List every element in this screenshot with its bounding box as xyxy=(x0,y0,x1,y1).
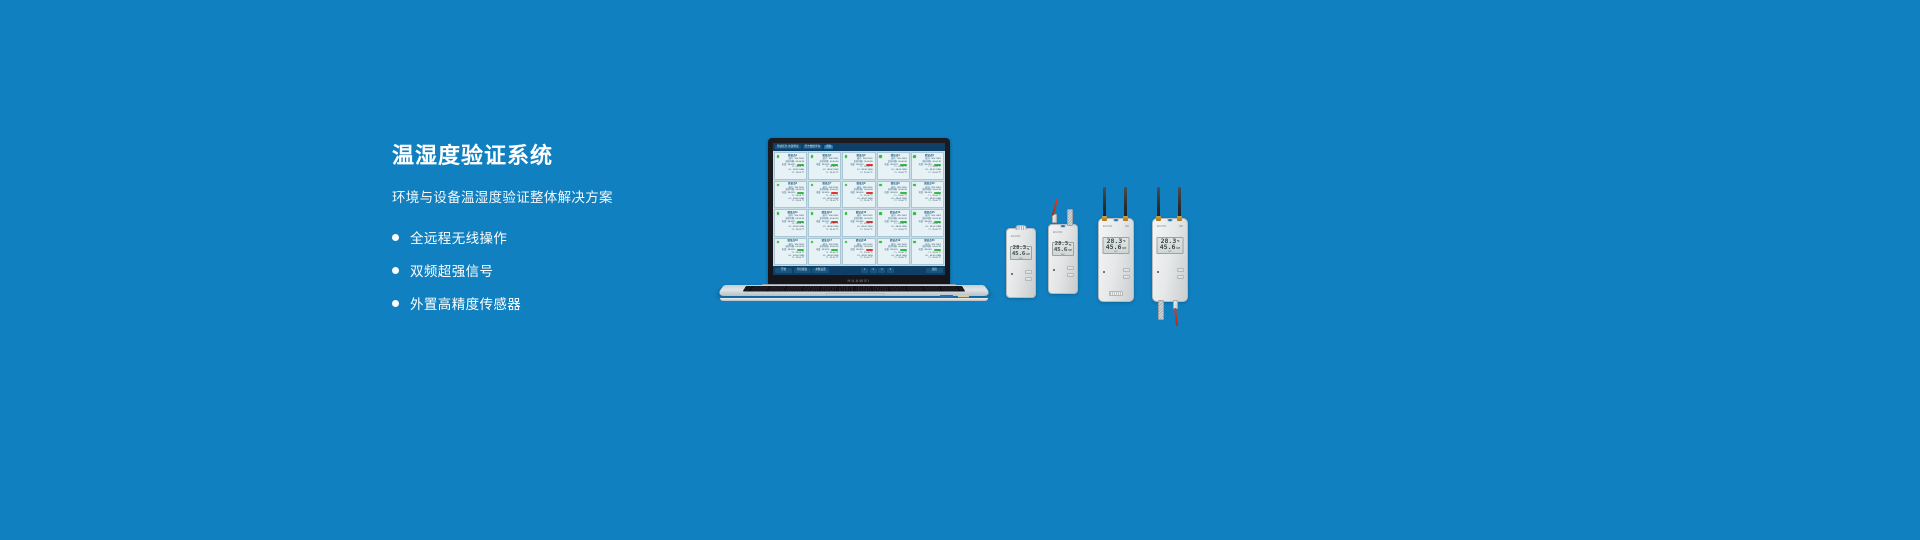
sensor-card-key: T2: xyxy=(860,257,863,260)
device-lcd-display: 28.3 ℃ 45.6 %RH REC xyxy=(1010,246,1032,260)
sensor-card-row: T2:25.00 ℃ xyxy=(849,257,872,260)
device-lcd-display: 28.3 ℃ 45.6 %RH REC xyxy=(1157,237,1184,254)
app-bottom-toolbar: 开始 导出报表 参数设置 1 2 3 4 退出 xyxy=(773,266,945,275)
lcd-humidity-unit: %RH xyxy=(1068,250,1072,252)
sensor-card-key: 电量: xyxy=(884,249,889,252)
sensor-card-grid: 验证点1编号:WS-TH01采样间隔:00:00:30电量:98.00%T1:2… xyxy=(773,151,945,266)
card-status-led-icon xyxy=(811,241,814,244)
device-brand-row: ENON xyxy=(1049,230,1077,234)
sensor-card-row: T2:25.00 ℃ xyxy=(884,257,907,260)
sensor-card-title: 验证点12 xyxy=(815,212,838,215)
laptop-sticker-blue xyxy=(940,295,953,297)
feature-list: 全远程无线操作 双频超强信号 外置高精度传感器 xyxy=(392,227,722,313)
sensor-card-row: T2:25.00 ℃ xyxy=(884,200,907,203)
device-key-up[interactable] xyxy=(1123,268,1130,272)
sensor-card-key: 电量: xyxy=(816,249,821,252)
bullet-dot-icon xyxy=(392,300,399,307)
device-probe-logger: ENON 28.3 ℃ 45.6 %RH REC xyxy=(1048,224,1078,294)
device-brand-row: ENON H8 xyxy=(1153,224,1187,228)
device-body: ENON 28.3 ℃ 45.6 %RH REC xyxy=(1048,224,1078,294)
sensor-card-title: 验证点1 xyxy=(781,155,804,158)
sensor-card-row: T2:25.00 ℃ xyxy=(815,172,838,175)
card-status-led-icon xyxy=(811,155,814,158)
sensor-card-key: 电量: xyxy=(816,192,821,195)
laptop-front-edge xyxy=(720,298,988,301)
antenna-right-icon xyxy=(1178,187,1181,217)
sensor-card[interactable]: 验证点4编号:WS-TH01采样间隔:00:00:30电量:98.00%T1:2… xyxy=(877,152,910,180)
sensor-card[interactable]: 验证点1编号:WS-TH01采样间隔:00:00:30电量:98.00%T1:2… xyxy=(774,152,807,180)
lcd-humidity-unit: %RH xyxy=(1122,248,1126,250)
device-brand: ENON xyxy=(1053,230,1062,234)
sensor-card-row: T2:25.00 ℃ xyxy=(884,172,907,175)
card-status-led-icon xyxy=(879,184,882,187)
sensor-card-value: 25.00 ℃ xyxy=(932,229,941,232)
card-status-led-icon xyxy=(845,155,848,158)
bullet-dot-icon xyxy=(392,234,399,241)
card-status-led-icon xyxy=(913,212,916,215)
sensor-card-row: T2:25.00 ℃ xyxy=(918,172,941,175)
lcd-humidity-line: 45.6 %RH xyxy=(1013,252,1029,258)
card-status-led-icon xyxy=(913,155,916,158)
sensor-card-key: T2: xyxy=(894,257,897,260)
sensor-card-value: 25.00 ℃ xyxy=(830,200,839,203)
laptop-product-image: 测试任务-新建测试 历史数据查询 帮助 验证点1编号:WS-TH01采样间隔:0… xyxy=(718,138,990,301)
status-led-icon xyxy=(1011,273,1013,275)
card-status-led-icon xyxy=(879,212,882,215)
device-body: ENON H8 28.3 ℃ 45.6 %RH REC xyxy=(1152,218,1188,302)
card-status-led-icon xyxy=(777,184,780,187)
card-status-led-icon xyxy=(845,212,848,215)
sensor-card-value: 25.00 ℃ xyxy=(796,229,805,232)
card-status-led-icon xyxy=(811,212,814,215)
sensor-card-key: 电量: xyxy=(919,221,924,224)
sensor-card[interactable]: 验证点19编号:WS-TH01采样间隔:00:00:30电量:98.00%T1:… xyxy=(877,238,910,266)
sensor-card[interactable]: 验证点13编号:WS-TH01采样间隔:00:00:30电量:98.00%T1:… xyxy=(842,209,875,237)
sensor-card-title: 验证点6 xyxy=(781,183,804,186)
sensor-card-row: T2:25.00 ℃ xyxy=(918,200,941,203)
lcd-footer: REC xyxy=(1013,258,1029,260)
sensor-card-title: 验证点7 xyxy=(815,183,838,186)
tab-help[interactable]: 帮助 xyxy=(824,145,833,150)
device-lcd-display: 28.3 ℃ 45.6 %RH REC xyxy=(1052,242,1074,256)
sensor-card-key: T2: xyxy=(894,172,897,175)
sensor-card-key: 电量: xyxy=(782,164,787,167)
sensor-card-key: T2: xyxy=(826,257,829,260)
sensor-card-key: T2: xyxy=(826,172,829,175)
device-key-down[interactable] xyxy=(1177,275,1184,279)
sensor-card-value: 25.00 ℃ xyxy=(830,229,839,232)
page-4-button[interactable]: 4 xyxy=(887,268,894,274)
device-key-down[interactable] xyxy=(1025,277,1032,281)
sensor-card[interactable]: 验证点10编号:WS-TH01采样间隔:00:00:30电量:98.00%T1:… xyxy=(911,181,944,209)
card-status-led-icon xyxy=(777,212,780,215)
device-dual-antenna-logger: ENON H8 28.3 ℃ 45.6 %RH REC xyxy=(1098,218,1134,302)
page-3-button[interactable]: 3 xyxy=(878,268,885,274)
sensor-card-row: T2:25.00 ℃ xyxy=(849,200,872,203)
banner-stage: 温湿度验证系统 环境与设备温湿度验证整体解决方案 全远程无线操作 双频超强信号 … xyxy=(0,0,1920,540)
device-dual-antenna-probe-logger: ENON H8 28.3 ℃ 45.6 %RH REC xyxy=(1152,218,1188,302)
export-report-button[interactable]: 导出报表 xyxy=(794,268,811,274)
sensor-card-value: 25.00 ℃ xyxy=(864,172,873,175)
sensor-card-title: 验证点3 xyxy=(849,155,872,158)
sensor-card-key: T2: xyxy=(791,229,794,232)
sensor-card-key: 电量: xyxy=(884,164,889,167)
sensor-card-title: 验证点2 xyxy=(815,155,838,158)
sensor-card-key: 电量: xyxy=(850,249,855,252)
sensor-card[interactable]: 验证点6编号:WS-TH01采样间隔:00:00:30电量:98.00%T1:2… xyxy=(774,181,807,209)
device-brand-row: ENON H8 xyxy=(1099,224,1133,228)
feature-label: 外置高精度传感器 xyxy=(410,293,521,313)
lcd-footer: REC xyxy=(1055,254,1071,256)
sensor-card-title: 验证点8 xyxy=(849,183,872,186)
device-mini-logger: ENON 28.3 ℃ 45.6 %RH REC xyxy=(1006,228,1036,298)
sensor-card-value: 25.00 ℃ xyxy=(932,172,941,175)
sensor-card-title: 验证点9 xyxy=(884,183,907,186)
sensor-card-key: T2: xyxy=(860,172,863,175)
device-hang-hole xyxy=(1060,224,1066,228)
settings-button[interactable]: 参数设置 xyxy=(812,268,829,274)
card-status-led-icon xyxy=(913,241,916,244)
sensor-card-key: 电量: xyxy=(850,221,855,224)
card-status-led-icon xyxy=(879,155,882,158)
sensor-card-key: 电量: xyxy=(919,192,924,195)
sensor-card-key: 电量: xyxy=(782,192,787,195)
data-logger-devices: ENON 28.3 ℃ 45.6 %RH REC xyxy=(1002,180,1212,330)
sensor-card-value: 25.00 ℃ xyxy=(830,172,839,175)
lcd-footer: REC xyxy=(1106,251,1127,253)
antenna-right-icon xyxy=(1124,187,1127,217)
page-1-button[interactable]: 1 xyxy=(861,268,868,274)
device-model: H8 xyxy=(1179,224,1183,228)
device-brand: ENON xyxy=(1103,224,1112,228)
sensor-card-row: T2:25.00 ℃ xyxy=(918,257,941,260)
sensor-card-row: T2:25.00 ℃ xyxy=(815,229,838,232)
card-status-led-icon xyxy=(879,241,882,244)
sensor-card-value: 25.00 ℃ xyxy=(898,172,907,175)
sensor-card-value: 25.00 ℃ xyxy=(864,257,873,260)
sensor-card-value: 25.00 ℃ xyxy=(796,257,805,260)
banner-subtitle: 环境与设备温湿度验证整体解决方案 xyxy=(392,186,722,206)
device-key-up[interactable] xyxy=(1177,268,1184,272)
sensor-card-value: 25.00 ℃ xyxy=(864,200,873,203)
lcd-humidity-line: 45.6 %RH xyxy=(1106,244,1127,251)
device-hang-hole xyxy=(1167,218,1173,222)
sensor-card-title: 验证点13 xyxy=(849,212,872,215)
laptop-keyboard[interactable] xyxy=(743,286,966,291)
sensor-card-value: 25.00 ℃ xyxy=(932,200,941,203)
sensor-card-row: T2:25.00 ℃ xyxy=(849,229,872,232)
sensor-card-value: 25.00 ℃ xyxy=(932,257,941,260)
sensor-card[interactable]: 验证点7编号:WS-TH01采样间隔:00:00:30电量:98.00%T1:2… xyxy=(808,181,841,209)
device-model: H8 xyxy=(1125,224,1129,228)
status-led-icon xyxy=(1157,271,1159,273)
lcd-humidity-unit: %RH xyxy=(1026,254,1030,256)
sensor-card[interactable]: 验证点17编号:WS-TH01采样间隔:00:00:30电量:98.00%T1:… xyxy=(808,238,841,266)
sensor-card-key: T2: xyxy=(860,200,863,203)
sensor-card-value: 25.00 ℃ xyxy=(796,172,805,175)
sensor-card-key: T2: xyxy=(791,172,794,175)
sensor-card-key: T2: xyxy=(928,257,931,260)
status-led-icon xyxy=(1053,269,1055,271)
list-item: 外置高精度传感器 xyxy=(392,293,722,313)
lcd-humidity-line: 45.6 %RH xyxy=(1055,248,1071,254)
sensor-card[interactable]: 验证点8编号:WS-TH01采样间隔:00:00:30电量:98.00%T1:2… xyxy=(842,181,875,209)
sensor-card-key: T2: xyxy=(860,229,863,232)
laptop-sticker-gold xyxy=(958,295,969,297)
sensor-card-key: 电量: xyxy=(884,192,889,195)
device-key-down[interactable] xyxy=(1067,273,1074,277)
laptop-trackpad[interactable] xyxy=(826,293,885,296)
card-status-led-icon xyxy=(913,184,916,187)
sensor-card-key: T2: xyxy=(894,200,897,203)
device-body: ENON H8 28.3 ℃ 45.6 %RH REC xyxy=(1098,218,1134,302)
sensor-card[interactable]: 验证点15编号:WS-TH01采样间隔:00:00:30电量:98.00%T1:… xyxy=(911,209,944,237)
sensor-card[interactable]: 验证点9编号:WS-TH01采样间隔:00:00:30电量:98.00%T1:2… xyxy=(877,181,910,209)
laptop-screen: 测试任务-新建测试 历史数据查询 帮助 验证点1编号:WS-TH01采样间隔:0… xyxy=(773,143,945,275)
sensor-card-row: T2:25.00 ℃ xyxy=(781,229,804,232)
sensor-card[interactable]: 验证点18编号:WS-TH01采样间隔:00:00:30电量:98.00%T1:… xyxy=(842,238,875,266)
list-item: 全远程无线操作 xyxy=(392,227,722,247)
lcd-humidity-value: 45.6 xyxy=(1106,244,1122,251)
sensor-card-title: 验证点5 xyxy=(918,155,941,158)
sensor-card-value: 25.00 ℃ xyxy=(898,229,907,232)
sensor-card-value: 25.00 ℃ xyxy=(864,229,873,232)
sensor-card-row: T2:25.00 ℃ xyxy=(884,229,907,232)
start-button[interactable]: 开始 xyxy=(775,268,792,274)
device-key-down[interactable] xyxy=(1123,275,1130,279)
lcd-humidity-value: 45.6 xyxy=(1160,244,1176,251)
sensor-card-title: 验证点17 xyxy=(815,240,838,243)
sensor-card-title: 验证点14 xyxy=(884,212,907,215)
sensor-card-row: T2:25.00 ℃ xyxy=(781,257,804,260)
sensor-card-title: 验证点15 xyxy=(918,212,941,215)
sensor-card-title: 验证点18 xyxy=(849,240,872,243)
sensor-card-key: 电量: xyxy=(850,192,855,195)
sensor-card-key: 电量: xyxy=(782,221,787,224)
sensor-card-key: 电量: xyxy=(816,221,821,224)
sensor-card[interactable]: 验证点5编号:WS-TH01采样间隔:00:00:30电量:98.00%T1:2… xyxy=(911,152,944,180)
sensor-card[interactable]: 验证点14编号:WS-TH01采样间隔:00:00:30电量:98.00%T1:… xyxy=(877,209,910,237)
card-status-led-icon xyxy=(777,155,780,158)
device-brand-row: ENON xyxy=(1007,234,1035,238)
device-brand: ENON xyxy=(1011,234,1020,238)
page-title: 温湿度验证系统 xyxy=(392,143,722,169)
device-lcd-display: 28.3 ℃ 45.6 %RH REC xyxy=(1103,237,1130,254)
sensor-card-key: T2: xyxy=(928,200,931,203)
exit-button[interactable]: 退出 xyxy=(926,268,943,274)
sensor-card-row: T2:25.00 ℃ xyxy=(815,257,838,260)
lcd-humidity-value: 45.6 xyxy=(1012,252,1025,258)
banner-copy: 温湿度验证系统 环境与设备温湿度验证整体解决方案 全远程无线操作 双频超强信号 … xyxy=(392,143,722,326)
feature-label: 双频超强信号 xyxy=(410,260,493,280)
sensor-card-key: 电量: xyxy=(884,221,889,224)
sensor-card-key: T2: xyxy=(928,172,931,175)
laptop-lid: 测试任务-新建测试 历史数据查询 帮助 验证点1编号:WS-TH01采样间隔:0… xyxy=(768,138,950,286)
list-item: 双频超强信号 xyxy=(392,260,722,280)
sensor-card-key: T2: xyxy=(826,200,829,203)
mesh-probe-icon xyxy=(1158,300,1164,320)
sensor-card-key: 电量: xyxy=(782,249,787,252)
lcd-footer: REC xyxy=(1160,251,1181,253)
status-led-icon xyxy=(1103,271,1105,273)
sensor-card-title: 验证点20 xyxy=(918,240,941,243)
sensor-card[interactable]: 验证点16编号:WS-TH01采样间隔:00:00:30电量:98.00%T1:… xyxy=(774,238,807,266)
sensor-card-key: 电量: xyxy=(919,164,924,167)
sensor-card-key: T2: xyxy=(791,257,794,260)
card-status-led-icon xyxy=(811,184,814,187)
app-toolbar: 测试任务-新建测试 历史数据查询 帮助 xyxy=(773,143,945,151)
sensor-card[interactable]: 验证点12编号:WS-TH01采样间隔:00:00:30电量:98.00%T1:… xyxy=(808,209,841,237)
sensor-card-value: 25.00 ℃ xyxy=(796,200,805,203)
red-wire-probe-icon xyxy=(1174,308,1177,326)
sensor-card-key: 电量: xyxy=(919,249,924,252)
antenna-left-icon xyxy=(1103,187,1106,217)
sensor-card-title: 验证点16 xyxy=(781,240,804,243)
sensor-card-title: 验证点11 xyxy=(781,212,804,215)
feature-label: 全远程无线操作 xyxy=(410,227,507,247)
sensor-card-key: T2: xyxy=(928,229,931,232)
sensor-card-value: 25.00 ℃ xyxy=(898,257,907,260)
device-key-up[interactable] xyxy=(1067,266,1074,270)
mesh-probe-icon xyxy=(1067,209,1073,226)
sensor-card-value: 25.00 ℃ xyxy=(830,257,839,260)
card-status-led-icon xyxy=(777,241,780,244)
device-body: ENON 28.3 ℃ 45.6 %RH REC xyxy=(1006,228,1036,298)
sensor-card-value: 25.00 ℃ xyxy=(898,200,907,203)
device-vent-grille xyxy=(1109,291,1123,296)
lcd-humidity-unit: %RH xyxy=(1176,248,1180,250)
sensor-card-row: T2:25.00 ℃ xyxy=(781,172,804,175)
sensor-card-row: T2:25.00 ℃ xyxy=(815,200,838,203)
antenna-left-icon xyxy=(1157,187,1160,217)
sensor-card-row: T2:25.00 ℃ xyxy=(918,229,941,232)
device-hang-hole xyxy=(1113,218,1119,222)
sensor-card-title: 验证点19 xyxy=(884,240,907,243)
sensor-card-row: T2:25.00 ℃ xyxy=(781,200,804,203)
sensor-card-title: 验证点4 xyxy=(884,155,907,158)
lcd-humidity-line: 45.6 %RH xyxy=(1160,244,1181,251)
sensor-card-key: 电量: xyxy=(850,164,855,167)
sensor-card[interactable]: 验证点11编号:WS-TH01采样间隔:00:00:30电量:98.00%T1:… xyxy=(774,209,807,237)
card-status-led-icon xyxy=(845,241,848,244)
device-brand: ENON xyxy=(1157,224,1166,228)
tab-history[interactable]: 历史数据查询 xyxy=(803,145,823,150)
sensor-card[interactable]: 验证点20编号:WS-TH01采样间隔:00:00:30电量:98.00%T1:… xyxy=(911,238,944,266)
laptop-base xyxy=(718,285,990,301)
sensor-card[interactable]: 验证点3编号:WS-TH01采样间隔:00:00:30电量:98.00%T1:2… xyxy=(842,152,875,180)
sensor-card-key: 电量: xyxy=(816,164,821,167)
device-key-up[interactable] xyxy=(1025,270,1032,274)
sensor-card-key: T2: xyxy=(791,200,794,203)
card-status-led-icon xyxy=(845,184,848,187)
lcd-humidity-value: 45.6 xyxy=(1054,248,1067,254)
bullet-dot-icon xyxy=(392,267,399,274)
sensor-card-key: T2: xyxy=(826,229,829,232)
device-vent-clip xyxy=(1016,225,1027,230)
sensor-card[interactable]: 验证点2编号:WS-TH01采样间隔:00:00:30电量:98.00%T1:2… xyxy=(808,152,841,180)
page-2-button[interactable]: 2 xyxy=(870,268,877,274)
sensor-card-title: 验证点10 xyxy=(918,183,941,186)
sensor-card-row: T2:25.00 ℃ xyxy=(849,172,872,175)
sensor-card-key: T2: xyxy=(894,229,897,232)
tab-new-test[interactable]: 测试任务-新建测试 xyxy=(775,145,801,150)
